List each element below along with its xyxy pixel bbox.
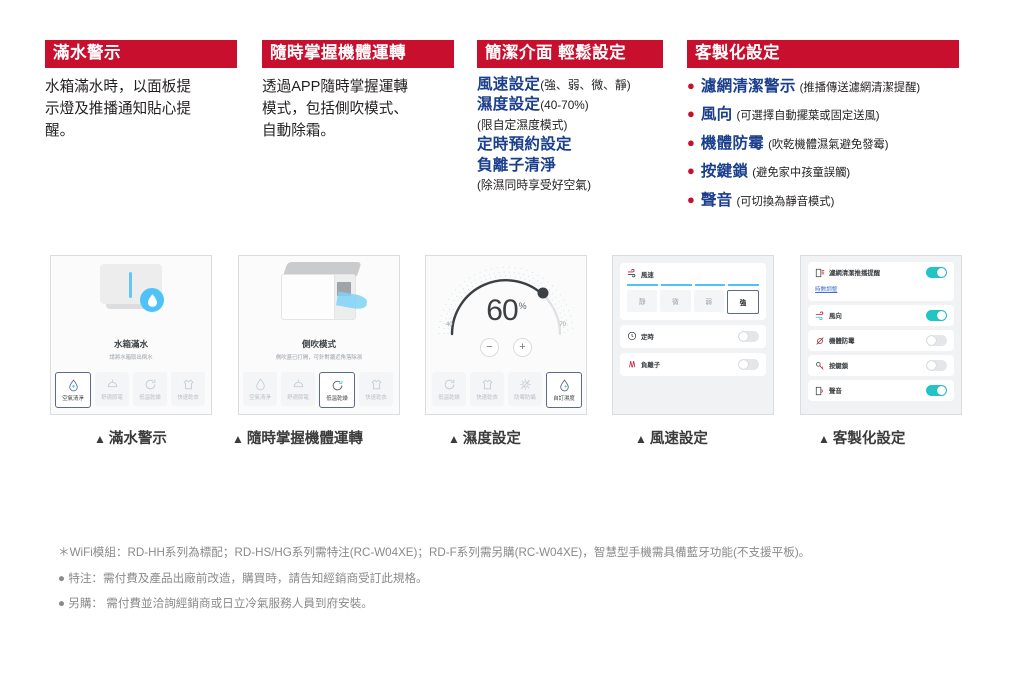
ion-toggle[interactable] <box>738 359 759 370</box>
feature-row-sub: (40-70%) <box>540 98 589 112</box>
feature-column-simple-ui: 簡潔介面 輕鬆設定 風速設定(強、弱、微、靜) 濕度設定(40-70%) (限自… <box>477 40 687 216</box>
dial-max-label: 70 <box>559 322 566 328</box>
mode-label: 空氣清淨 <box>62 394 84 402</box>
footnote-special-order: ● 特注：需付費及產品出廠前改造，購買時，請告知經銷商受訂此規格。 <box>58 571 988 587</box>
bullet-dot-icon: ● <box>687 79 695 92</box>
status-title: 水箱滿水 <box>51 338 211 350</box>
low-temp-dry-icon <box>443 378 456 391</box>
poster-root: 滿水警示 水箱滿水時，以面板提 示燈及推播通知貼心提 醒。 隨時掌握機體運轉 透… <box>0 0 1018 681</box>
wind-direction-label: 風向 <box>829 311 842 320</box>
footnote-block: ＊WiFi模組：RD-HH系列為標配；RD-HS/HG系列需特注(RC-W04X… <box>58 545 988 622</box>
feature-row: 濕度設定(40-70%) <box>477 95 687 115</box>
mode-button-quick-dry[interactable]: 快速乾衣 <box>171 372 205 406</box>
key-lock-toggle[interactable] <box>926 360 947 371</box>
key-lock-label: 按鍵鎖 <box>829 361 848 370</box>
screenshot-side-blow-mode: 側吹模式 側吹蓋已打開，可針對牆近角落除濕 空氣清淨 舒適節電 低溫乾燥 <box>238 255 400 415</box>
feature-row: (限自定濕度模式) <box>477 116 687 135</box>
air-clean-icon <box>254 378 267 391</box>
mode-label: 快速乾衣 <box>365 393 387 401</box>
low-temp-dry-icon <box>144 378 157 391</box>
quick-dry-clothes-icon <box>481 378 494 391</box>
mode-button-comfort-save[interactable]: 舒適節電 <box>281 372 315 406</box>
comfort-save-icon <box>292 378 305 391</box>
bullet-dot-icon: ● <box>687 164 695 177</box>
anti-mold-toggle[interactable] <box>926 335 947 346</box>
filter-clean-toggle[interactable] <box>926 267 947 278</box>
quick-dry-clothes-icon <box>182 378 195 391</box>
bullet-main: 機體防霉 <box>701 131 764 153</box>
feature-column-water-alert: 滿水警示 水箱滿水時，以面板提 示燈及推播通知貼心提 醒。 <box>45 40 262 216</box>
device-illustration-area <box>239 256 399 336</box>
air-clean-icon <box>67 379 80 392</box>
feature-bullet: ● 按鍵鎖 (避免家中孩童誤觸) <box>687 159 977 181</box>
fan-speed-indicator <box>627 284 759 286</box>
feature-row: 風速設定(強、弱、微、靜) <box>477 75 687 95</box>
feature-row-sub: (除濕同時享受好空氣) <box>477 178 591 192</box>
screenshot-custom-settings: 濾網清潔推播提醒 時數調整 風向 機體防霉 <box>800 255 962 415</box>
feature-column-remote-monitor: 隨時掌握機體運轉 透過APP隨時掌握運轉 模式，包括側吹模式、 自動除霜。 <box>262 40 477 216</box>
feature-column-custom-settings: 客製化設定 ● 濾網清潔警示 (推播傳送濾網清潔提醒) ● 風向 (可選擇自動擺… <box>687 40 977 216</box>
fan-option-silent[interactable]: 靜 <box>627 290 657 312</box>
bullet-sub: (可選擇自動擺葉或固定送風) <box>736 107 879 123</box>
sound-row[interactable]: 聲音 <box>808 380 954 401</box>
fan-speed-icon <box>627 269 637 279</box>
water-tank-icon <box>100 264 162 312</box>
device-illustration-area <box>51 256 211 336</box>
anti-mold-label: 機體防霉 <box>829 336 855 345</box>
triangle-marker-icon: ▲ <box>635 432 647 446</box>
feature-row-main: 定時預約設定 <box>477 136 572 153</box>
feature-row: 定時預約設定 <box>477 135 687 155</box>
sound-label: 聲音 <box>829 386 842 395</box>
bullet-sub: (可切換為靜音模式) <box>736 193 834 209</box>
feature-row-main: 風速設定 <box>477 76 540 93</box>
feature-body-line: 透過APP隨時掌握運轉 <box>262 77 477 99</box>
timer-label: 定時 <box>641 332 654 341</box>
feature-columns: 滿水警示 水箱滿水時，以面板提 示燈及推播通知貼心提 醒。 隨時掌握機體運轉 透… <box>45 40 985 216</box>
feature-title-1: 滿水警示 <box>45 40 237 68</box>
mode-label: 低溫乾燥 <box>139 393 161 401</box>
status-title: 側吹模式 <box>239 338 399 350</box>
mode-label: 自訂濕度 <box>553 394 575 402</box>
anti-mold-mite-icon <box>519 378 532 391</box>
feature-bullet: ● 濾網清潔警示 (推播傳送濾網清潔提醒) <box>687 74 977 96</box>
sound-toggle[interactable] <box>926 385 947 396</box>
mode-button-low-temp-dry[interactable]: 低溫乾燥 <box>319 372 355 408</box>
feature-body-line: 醒。 <box>45 121 262 143</box>
screenshot-water-full-alert: 水箱滿水 請將水箱取出倒水 空氣清淨 舒適節電 低溫乾燥 <box>50 255 212 415</box>
anti-mold-icon <box>815 336 825 346</box>
timer-clock-icon <box>627 331 637 341</box>
filter-clean-icon <box>815 268 825 278</box>
custom-humidity-icon <box>558 379 571 392</box>
feature-bullet: ● 機體防霉 (吹乾機體濕氣避免發霉) <box>687 131 977 153</box>
key-lock-row[interactable]: 按鍵鎖 <box>808 355 954 376</box>
hours-adjust-link[interactable]: 時數調整 <box>815 285 837 293</box>
triangle-marker-icon: ▲ <box>94 432 106 446</box>
caption-fan-speed-setting: ▲風速設定 <box>635 427 708 448</box>
bullet-dot-icon: ● <box>687 193 695 206</box>
ion-row[interactable]: 負離子 <box>620 353 766 376</box>
sound-icon <box>815 386 825 396</box>
caption-humidity-setting: ▲濕度設定 <box>448 427 521 448</box>
feature-row-main: 濕度設定 <box>477 96 540 113</box>
quick-dry-clothes-icon <box>370 378 383 391</box>
timer-toggle[interactable] <box>738 331 759 342</box>
low-temp-dry-icon <box>331 379 344 392</box>
dial-min-label: 40 <box>446 322 453 328</box>
mode-button-bar: 空氣清淨 舒適節電 低溫乾燥 快速乾衣 <box>243 372 400 408</box>
fan-speed-options: 靜 微 弱 強 <box>627 290 759 314</box>
ion-label: 負離子 <box>641 360 660 369</box>
mode-label: 防霉防蟎 <box>514 393 536 401</box>
screenshot-fan-speed-setting: 風速 靜 微 弱 強 定時 <box>612 255 774 415</box>
humidity-dial[interactable]: 60% 40 70 − + <box>426 256 586 360</box>
bullet-sub: (推播傳送濾網清潔提醒) <box>800 79 921 95</box>
mode-button-air-clean[interactable]: 空氣清淨 <box>243 372 277 406</box>
triangle-marker-icon: ▲ <box>232 432 244 446</box>
key-lock-icon <box>815 361 825 371</box>
mode-label: 舒適節電 <box>101 393 123 401</box>
feature-body-line: 示燈及推播通知貼心提 <box>45 99 262 121</box>
wind-direction-icon <box>815 311 825 321</box>
bullet-dot-icon: ● <box>687 136 695 149</box>
bullet-dot-icon: ● <box>687 107 695 120</box>
bullet-sub: (吹乾機體濕氣避免發霉) <box>768 136 889 152</box>
fan-option-strong[interactable]: 強 <box>727 290 759 314</box>
status-subtitle: 側吹蓋已打開，可針對牆近角落除濕 <box>239 353 399 361</box>
mode-button-anti-mold-mite[interactable]: 防霉防蟎 <box>508 372 542 406</box>
wind-direction-row[interactable]: 風向 <box>808 305 954 326</box>
mode-button-low-temp-dry[interactable]: 低溫乾燥 <box>432 372 466 406</box>
feature-bullet: ● 聲音 (可切換為靜音模式) <box>687 188 977 210</box>
fan-speed-card: 風速 靜 微 弱 強 <box>620 263 766 320</box>
bullet-sub: (避免家中孩童誤觸) <box>752 164 850 180</box>
fan-speed-header: 風速 <box>627 269 759 279</box>
mode-button-quick-dry[interactable]: 快速乾衣 <box>359 372 393 406</box>
mode-label: 空氣清淨 <box>249 393 271 401</box>
feature-body-line: 水箱滿水時，以面板提 <box>45 77 262 99</box>
feature-row-sub: (限自定濕度模式) <box>477 118 567 132</box>
mode-label: 低溫乾燥 <box>438 393 460 401</box>
humidity-stepper: − + <box>426 338 586 357</box>
feature-body-3: 風速設定(強、弱、微、靜) 濕度設定(40-70%) (限自定濕度模式) 定時預… <box>477 75 687 195</box>
bullet-main: 風向 <box>701 102 733 124</box>
anti-mold-row[interactable]: 機體防霉 <box>808 330 954 351</box>
mode-label: 快速乾衣 <box>177 393 199 401</box>
fan-option-breeze[interactable]: 微 <box>660 290 690 312</box>
feature-title-4: 客製化設定 <box>687 40 959 68</box>
mode-button-custom-humidity[interactable]: 自訂濕度 <box>546 372 582 408</box>
feature-row: 負離子清淨 <box>477 156 687 176</box>
caption-custom-settings: ▲客製化設定 <box>818 427 905 448</box>
feature-body-line: 自動除霜。 <box>262 121 477 143</box>
bullet-main: 濾網清潔警示 <box>701 74 796 96</box>
filter-clean-label: 濾網清潔推播提醒 <box>829 268 880 277</box>
mode-button-bar: 空氣清淨 舒適節電 低溫乾燥 快速乾衣 <box>55 372 212 408</box>
humidity-unit: % <box>519 301 526 311</box>
feature-body-line: 模式，包括側吹模式、 <box>262 99 477 121</box>
footnote-wifi-module: ＊WiFi模組：RD-HH系列為標配；RD-HS/HG系列需特注(RC-W04X… <box>58 545 988 561</box>
feature-body-1: 水箱滿水時，以面板提 示燈及推播通知貼心提 醒。 <box>45 77 262 143</box>
feature-bullet-list: ● 濾網清潔警示 (推播傳送濾網清潔提醒) ● 風向 (可選擇自動擺葉或固定送風… <box>687 74 977 210</box>
feature-row-main: 負離子清淨 <box>477 157 556 174</box>
timer-row[interactable]: 定時 <box>620 325 766 348</box>
caption-row: ▲滿水警示 ▲隨時掌握機體運轉 ▲濕度設定 ▲風速設定 ▲客製化設定 <box>50 427 970 449</box>
fan-option-weak[interactable]: 弱 <box>694 290 724 312</box>
app-screenshot-row: 水箱滿水 請將水箱取出倒水 空氣清淨 舒適節電 低溫乾燥 <box>50 255 970 420</box>
screenshot-humidity-setting: 60% 40 70 − + 低溫乾燥 快速乾衣 <box>425 255 587 415</box>
fan-speed-label: 風速 <box>641 270 654 279</box>
triangle-marker-icon: ▲ <box>448 432 460 446</box>
feature-body-2: 透過APP隨時掌握運轉 模式，包括側吹模式、 自動除霜。 <box>262 77 477 143</box>
footnote-separate-purchase: ● 另購： 需付費並洽詢經銷商或日立冷氣服務人員到府安裝。 <box>58 596 988 612</box>
mode-button-air-clean[interactable]: 空氣清淨 <box>55 372 91 408</box>
negative-ion-icon <box>627 359 637 369</box>
mode-label: 低溫乾燥 <box>326 394 348 402</box>
wind-direction-toggle[interactable] <box>926 310 947 321</box>
caption-remote-monitor: ▲隨時掌握機體運轉 <box>232 427 363 448</box>
mode-button-quick-dry[interactable]: 快速乾衣 <box>470 372 504 406</box>
bullet-main: 聲音 <box>701 188 733 210</box>
water-drop-badge-icon <box>140 288 164 312</box>
feature-title-2: 隨時掌握機體運轉 <box>262 40 454 68</box>
mode-button-bar: 低溫乾燥 快速乾衣 防霉防蟎 自訂濕度 <box>425 372 582 408</box>
feature-row: (除濕同時享受好空氣) <box>477 176 687 195</box>
comfort-save-icon <box>106 378 119 391</box>
mode-label: 舒適節電 <box>287 393 309 401</box>
bullet-main: 按鍵鎖 <box>701 159 748 181</box>
humidity-decrease-button[interactable]: − <box>480 338 499 357</box>
humidity-increase-button[interactable]: + <box>513 338 532 357</box>
mode-button-low-temp-dry[interactable]: 低溫乾燥 <box>133 372 167 406</box>
mode-label: 快速乾衣 <box>476 393 498 401</box>
triangle-marker-icon: ▲ <box>818 432 830 446</box>
feature-row-sub: (強、弱、微、靜) <box>540 78 630 92</box>
mode-button-comfort-save[interactable]: 舒適節電 <box>95 372 129 406</box>
caption-water-alert: ▲滿水警示 <box>94 427 167 448</box>
filter-clean-row[interactable]: 濾網清潔推播提醒 時數調整 <box>808 262 954 301</box>
feature-title-3: 簡潔介面 輕鬆設定 <box>477 40 663 68</box>
feature-bullet: ● 風向 (可選擇自動擺葉或固定送風) <box>687 102 977 124</box>
status-subtitle: 請將水箱取出倒水 <box>51 353 211 361</box>
dehumidifier-icon <box>277 262 361 324</box>
